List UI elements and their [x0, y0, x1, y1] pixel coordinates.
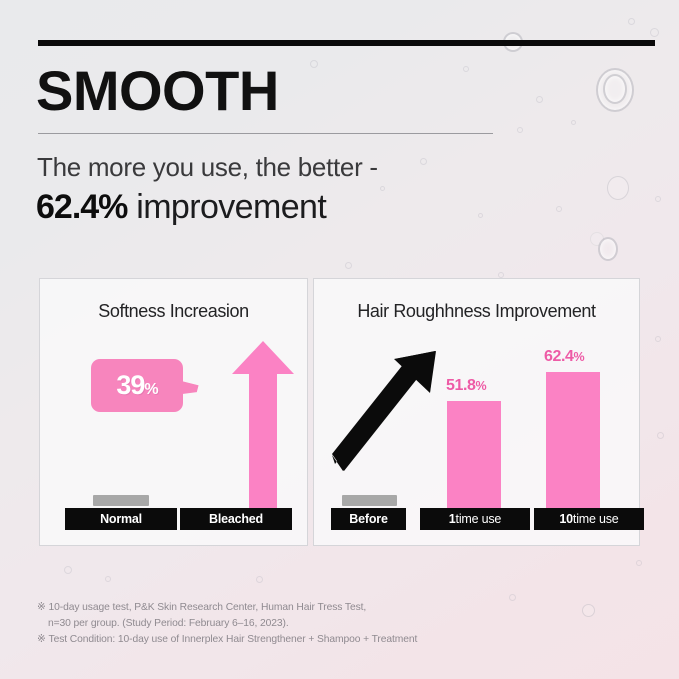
footnotes: ※10-day usage test, P&K Skin Research Ce… — [37, 600, 637, 648]
gray-baseline-bar-before — [342, 495, 397, 506]
footnote-line-3: ※Test Condition: 10-day use of Innerplex… — [37, 632, 637, 648]
bubble-icon — [603, 74, 627, 104]
chart-title-roughness: Hair Roughhness Improvement — [314, 301, 639, 322]
category-label-10-bold: 10 — [559, 512, 573, 526]
callout-number: 39 — [116, 370, 144, 400]
subtitle-line-2: 62.4% improvement — [36, 188, 326, 227]
bubble-icon — [463, 66, 469, 72]
subtitle-highlight-value: 62.4% — [36, 188, 127, 226]
bubble-icon — [420, 158, 427, 165]
trend-arrow-up-icon — [332, 351, 438, 471]
bar-10-time-use — [546, 372, 600, 508]
bubble-icon — [478, 213, 483, 218]
bar-value-1-number: 51.8 — [446, 377, 476, 394]
bubble-icon — [655, 336, 661, 342]
up-arrow-icon — [232, 341, 294, 514]
callout-bubble-text: 39% — [116, 370, 157, 401]
bubble-icon — [590, 232, 604, 246]
subtitle-highlight-rest: improvement — [127, 188, 326, 226]
category-label-10-light: time use — [573, 512, 619, 526]
bubble-icon — [650, 28, 659, 37]
chart-title-softness: Softness Increasion — [40, 301, 307, 322]
chart-panel-roughness: Hair Roughhness Improvement 51.8% 62.4% … — [313, 278, 640, 546]
category-label-10-time-use: 10 time use — [534, 508, 644, 530]
category-label-bleached: Bleached — [180, 508, 292, 530]
footnote-star-icon: ※ — [37, 602, 46, 613]
bubble-icon — [310, 60, 318, 68]
subtitle-line-1: The more you use, the better - — [37, 152, 378, 183]
callout-percent-sign: % — [144, 381, 157, 398]
category-label-1-light: time use — [456, 512, 502, 526]
bubble-icon — [256, 576, 263, 583]
bar-1-time-use — [447, 401, 501, 508]
bar-value-1-percent: % — [476, 379, 487, 393]
bubble-icon — [607, 176, 629, 200]
bubble-icon — [105, 576, 111, 582]
bubble-icon — [596, 68, 634, 112]
bubble-icon — [345, 262, 352, 269]
bubble-icon — [598, 237, 618, 261]
bubble-icon — [636, 560, 642, 566]
category-label-1-time-use: 1 time use — [420, 508, 530, 530]
category-label-1-bold: 1 — [449, 512, 456, 526]
bubble-icon — [571, 120, 576, 125]
header-rule-thin — [38, 133, 493, 134]
category-label-normal: Normal — [65, 508, 177, 530]
bubble-icon — [657, 432, 664, 439]
footnote-line-1: ※10-day usage test, P&K Skin Research Ce… — [37, 600, 637, 616]
bubble-icon — [380, 186, 385, 191]
gray-baseline-bar-normal — [93, 495, 149, 506]
bar-value-1-time-use: 51.8% — [446, 377, 486, 395]
promo-graphic-canvas: SMOOTH The more you use, the better - 62… — [0, 0, 679, 679]
bar-value-10-percent: % — [574, 350, 585, 364]
chart-panel-softness: Softness Increasion 39% Normal Bleached — [39, 278, 308, 546]
bubble-icon — [628, 18, 635, 25]
header-rule-thick — [38, 40, 655, 46]
category-label-before: Before — [331, 508, 406, 530]
bubble-icon — [536, 96, 543, 103]
bubble-icon — [556, 206, 562, 212]
callout-bubble-39: 39% — [91, 359, 183, 412]
bubble-icon — [517, 127, 523, 133]
footnote-line-2: n=30 per group. (Study Period: February … — [37, 616, 637, 632]
footnote-star-icon: ※ — [37, 634, 46, 645]
bar-value-10-number: 62.4 — [544, 348, 574, 365]
footnote-line-1-text: 10-day usage test, P&K Skin Research Cen… — [49, 602, 367, 613]
page-title: SMOOTH — [36, 60, 279, 122]
bubble-icon — [64, 566, 72, 574]
bubble-icon — [655, 196, 661, 202]
bar-value-10-time-use: 62.4% — [544, 348, 584, 366]
footnote-line-3-text: Test Condition: 10-day use of Innerplex … — [49, 634, 418, 645]
